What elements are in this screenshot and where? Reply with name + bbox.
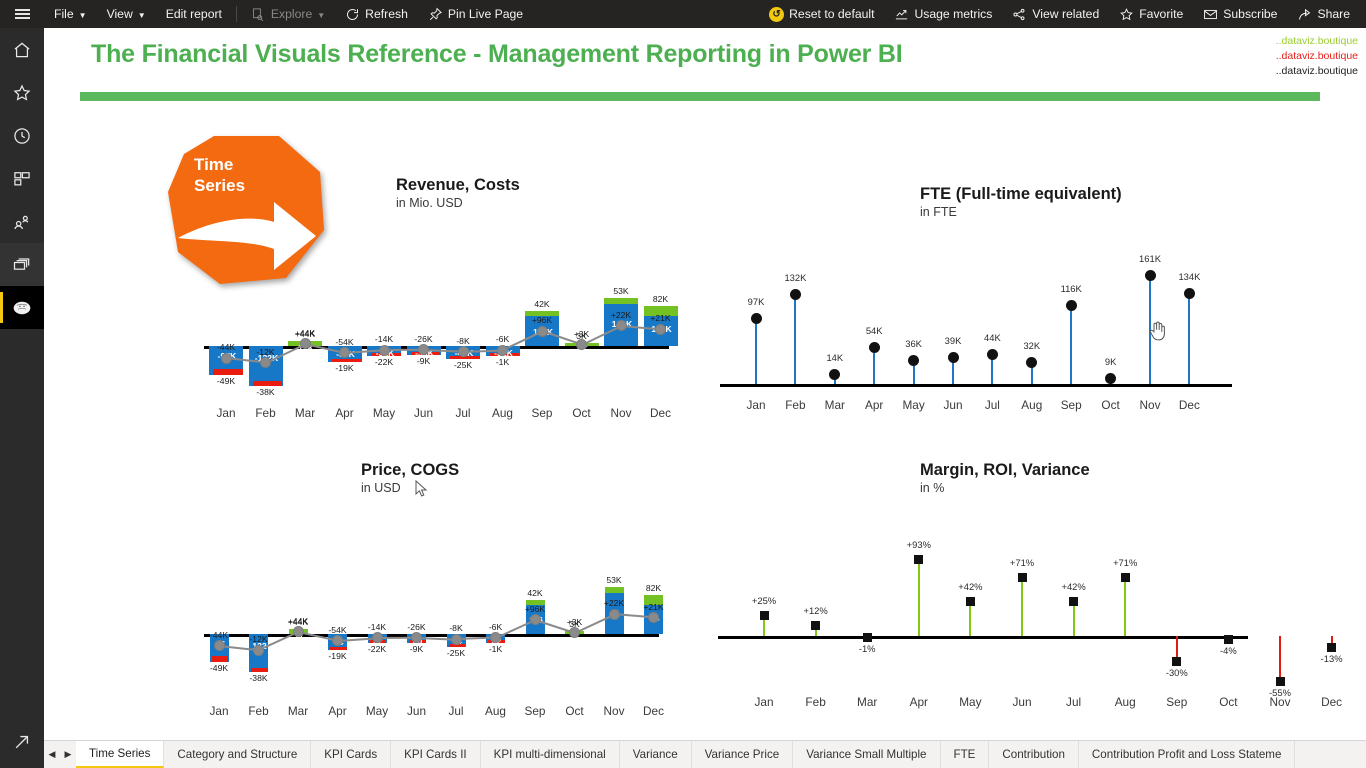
bar-delta-label: 42K bbox=[520, 299, 564, 309]
page-tab-kpi-multi-dimensional[interactable]: KPI multi-dimensional bbox=[481, 741, 620, 768]
variance-label: -44K bbox=[197, 630, 241, 640]
value-label: 132K bbox=[771, 272, 819, 283]
page-tab-label: Category and Structure bbox=[177, 748, 297, 761]
panel-subtitle: in FTE bbox=[920, 205, 1340, 219]
ribbon-item-favorite[interactable]: Favorite bbox=[1109, 0, 1193, 28]
value-marker bbox=[811, 621, 820, 630]
hamburger-icon[interactable] bbox=[0, 0, 44, 28]
chevron-down-icon: ▼ bbox=[79, 11, 87, 20]
axis-category-label: Dec bbox=[632, 704, 676, 718]
ribbon-item-share[interactable]: Share bbox=[1287, 0, 1360, 28]
connector-marker bbox=[451, 634, 462, 645]
panel-price-cogs: Price, COGS in USD bbox=[361, 461, 691, 495]
ribbon-item-edit-report[interactable]: Edit report bbox=[156, 0, 232, 28]
axis-category-label: Jun bbox=[395, 704, 439, 718]
bar-delta-label: -49K bbox=[204, 376, 248, 386]
page-tab-bar: ◀ ▶ Time SeriesCategory and StructureKPI… bbox=[44, 740, 1366, 768]
ribbon-item-label: File bbox=[54, 7, 74, 21]
value-marker bbox=[760, 611, 769, 620]
bar-delta-label: -25K bbox=[441, 360, 485, 370]
envelope-icon bbox=[1203, 7, 1218, 22]
connector-marker bbox=[379, 345, 390, 356]
connector-marker bbox=[214, 640, 225, 651]
connector-marker bbox=[616, 320, 627, 331]
axis-category-label: May bbox=[355, 704, 399, 718]
ribbon-right-group: ↺Reset to defaultUsage metricsView relat… bbox=[759, 0, 1366, 28]
clock-icon bbox=[12, 126, 32, 146]
panel-fte: FTE (Full-time equivalent) in FTE bbox=[920, 185, 1340, 219]
ribbon-item-view[interactable]: View▼ bbox=[97, 0, 156, 28]
sidebar-item-apps[interactable] bbox=[0, 157, 44, 200]
lollipop-stem bbox=[755, 318, 757, 384]
variance-label: +22K bbox=[599, 310, 643, 320]
axis-category-label: Sep bbox=[1151, 695, 1203, 709]
usage-metrics-icon bbox=[894, 7, 909, 22]
value-label: 97K bbox=[732, 296, 780, 307]
axis-category-label: Apr bbox=[323, 406, 367, 420]
axis-category-label: Nov bbox=[592, 704, 636, 718]
people-icon bbox=[12, 212, 32, 232]
axis-category-label: Dec bbox=[1165, 398, 1213, 412]
chart-price-cogs[interactable]: 97-49K-44K132-38K-12K17+44K+44K54-19K-54… bbox=[194, 510, 694, 700]
lollipop-marker bbox=[1145, 270, 1156, 281]
reset-icon: ↺ bbox=[769, 7, 784, 22]
sidebar-item-recent[interactable] bbox=[0, 114, 44, 157]
bar-delta-positive bbox=[604, 298, 638, 305]
axis-category-label: May bbox=[362, 406, 406, 420]
page-tab-contribution-profit-and-loss-stateme[interactable]: Contribution Profit and Loss Stateme bbox=[1079, 741, 1295, 768]
bar-delta-label: -9K bbox=[395, 644, 439, 654]
chart-margin-roi[interactable]: +25%Jan+12%Feb-1%Mar+93%Apr+42%May+71%Ju… bbox=[710, 510, 1270, 700]
axis-category-label: Jun bbox=[402, 406, 446, 420]
ribbon-item-label: Edit report bbox=[166, 7, 222, 21]
value-label: +71% bbox=[996, 557, 1048, 568]
ribbon-left-group: File▼View▼Edit reportExplore▼RefreshPin … bbox=[44, 0, 533, 28]
lollipop-marker bbox=[829, 369, 840, 380]
value-label: +25% bbox=[738, 595, 790, 606]
connector-marker bbox=[253, 645, 264, 656]
bar-delta-negative bbox=[212, 656, 229, 662]
axis-category-label: Sep bbox=[520, 406, 564, 420]
stem-positive bbox=[1021, 578, 1023, 636]
axis-category-label: Mar bbox=[841, 695, 893, 709]
value-marker bbox=[914, 555, 923, 564]
connector-marker bbox=[537, 326, 548, 337]
lollipop-stem bbox=[1188, 293, 1190, 384]
ribbon-item-label: View bbox=[107, 7, 133, 21]
pin-icon bbox=[428, 7, 443, 22]
variance-label: -26K bbox=[395, 622, 439, 632]
axis-category-label: Jul bbox=[441, 406, 485, 420]
bar-delta-label: -22K bbox=[362, 357, 406, 367]
ribbon-item-label: Favorite bbox=[1139, 7, 1183, 21]
value-marker bbox=[966, 597, 975, 606]
lollipop-marker bbox=[1184, 288, 1195, 299]
star-icon bbox=[1119, 7, 1134, 22]
panel-title: Price, COGS bbox=[361, 461, 691, 480]
ribbon-item-label: Pin Live Page bbox=[448, 7, 523, 21]
value-marker bbox=[863, 633, 872, 642]
lollipop-marker bbox=[1066, 300, 1077, 311]
variance-label: +21K bbox=[639, 313, 683, 323]
bar-delta-label: 42K bbox=[513, 588, 557, 598]
page-tab-label: Contribution Profit and Loss Stateme bbox=[1092, 748, 1281, 761]
badge-line-1: Time bbox=[194, 154, 245, 175]
page-tab-label: Contribution bbox=[1002, 748, 1065, 761]
value-marker bbox=[1018, 573, 1027, 582]
axis-category-label: Apr bbox=[316, 704, 360, 718]
variance-label: -54K bbox=[323, 337, 367, 347]
bar-delta-label: -1K bbox=[474, 644, 518, 654]
axis-category-label: Jan bbox=[197, 704, 241, 718]
page-tab-kpi-cards[interactable]: KPI Cards bbox=[311, 741, 391, 768]
page-tab-time-series[interactable]: Time Series bbox=[76, 741, 164, 768]
bar-delta-label: 53K bbox=[592, 575, 636, 585]
axis-category-label: Jan bbox=[204, 406, 248, 420]
workspaces-icon bbox=[12, 255, 32, 275]
bar-delta-negative bbox=[213, 369, 243, 375]
page-tab-variance-small-multiple[interactable]: Variance Small Multiple bbox=[793, 741, 940, 768]
ribbon-item-label: Usage metrics bbox=[914, 7, 992, 21]
axis-category-label: Dec bbox=[639, 406, 683, 420]
ribbon-item-label: View related bbox=[1032, 7, 1099, 21]
arrow-up-right-icon bbox=[12, 732, 32, 752]
home-icon bbox=[12, 40, 32, 60]
value-marker bbox=[1121, 573, 1130, 582]
axis-category-label: Jun bbox=[996, 695, 1048, 709]
panel-title: Revenue, Costs bbox=[396, 176, 726, 195]
variance-label: +96K bbox=[513, 604, 557, 614]
lollipop-stem bbox=[794, 294, 796, 384]
panel-title: FTE (Full-time equivalent) bbox=[920, 185, 1340, 204]
panel-revenue-costs: Revenue, Costs in Mio. USD bbox=[396, 176, 726, 210]
bar-delta-label: 82K bbox=[632, 583, 676, 593]
sidebar-item-current-workspace[interactable] bbox=[0, 286, 44, 329]
value-label: 161K bbox=[1126, 253, 1174, 264]
ribbon-item-view-related[interactable]: View related bbox=[1002, 0, 1109, 28]
bar-delta-label: -22K bbox=[355, 644, 399, 654]
bar-delta-label: -19K bbox=[316, 651, 360, 661]
variance-label: -8K bbox=[434, 623, 478, 633]
title-accent-band bbox=[80, 92, 1320, 101]
axis-category-label: Oct bbox=[1202, 695, 1254, 709]
variance-label: +96K bbox=[520, 315, 564, 325]
page-tab-label: KPI Cards II bbox=[404, 748, 467, 761]
page-tab-label: FTE bbox=[954, 748, 976, 761]
variance-label: +44K bbox=[283, 328, 327, 338]
explore-icon bbox=[251, 7, 266, 22]
axis-category-label: Aug bbox=[474, 704, 518, 718]
value-marker bbox=[1172, 657, 1181, 666]
lollipop-marker bbox=[751, 313, 762, 324]
stem-negative bbox=[1279, 636, 1281, 681]
page-tab-label: Variance bbox=[633, 748, 678, 761]
value-label: +71% bbox=[1099, 557, 1151, 568]
connector-marker bbox=[293, 626, 304, 637]
lollipop-marker bbox=[790, 289, 801, 300]
bar-delta-negative bbox=[253, 381, 283, 386]
value-label: 54K bbox=[850, 325, 898, 336]
top-ribbon: File▼View▼Edit reportExplore▼RefreshPin … bbox=[0, 0, 1366, 28]
stem-positive bbox=[1073, 602, 1075, 636]
page-tab-kpi-cards-ii[interactable]: KPI Cards II bbox=[391, 741, 481, 768]
bar-delta-negative bbox=[332, 359, 362, 362]
bar-delta-label: -25K bbox=[434, 648, 478, 658]
variance-label: +44K bbox=[276, 616, 320, 626]
bar-delta-label: -38K bbox=[244, 387, 288, 397]
axis-category-label: Jul bbox=[434, 704, 478, 718]
lollipop-marker bbox=[869, 342, 880, 353]
chart-baseline bbox=[720, 384, 1232, 387]
axis-category-label: Oct bbox=[560, 406, 604, 420]
connector-marker bbox=[609, 609, 620, 620]
ribbon-item-subscribe[interactable]: Subscribe bbox=[1193, 0, 1287, 28]
badge-label: Time Series bbox=[194, 154, 245, 196]
axis-category-label: Feb bbox=[237, 704, 281, 718]
ribbon-item-reset-to-default[interactable]: ↺Reset to default bbox=[759, 0, 884, 28]
chevron-down-icon: ▼ bbox=[138, 11, 146, 20]
brand-line-1: ..dataviz.boutique bbox=[1276, 34, 1358, 49]
value-marker bbox=[1276, 677, 1285, 686]
ribbon-item-label: Reset to default bbox=[789, 7, 874, 21]
hamburger-bars bbox=[15, 7, 30, 22]
page-tab-variance-price[interactable]: Variance Price bbox=[692, 741, 794, 768]
ribbon-item-label: Explore bbox=[271, 7, 312, 21]
bar-delta-label: 82K bbox=[639, 294, 683, 304]
page-tabs: Time SeriesCategory and StructureKPI Car… bbox=[76, 741, 1295, 768]
value-label: 9K bbox=[1087, 356, 1135, 367]
value-label: 14K bbox=[811, 352, 859, 363]
value-label: -4% bbox=[1202, 645, 1254, 656]
mouse-cursor-arrow bbox=[415, 480, 428, 498]
page-tab-label: KPI multi-dimensional bbox=[494, 748, 606, 761]
value-marker bbox=[1224, 635, 1233, 644]
sidebar-item-favorites[interactable] bbox=[0, 71, 44, 114]
bar-delta-label: -49K bbox=[197, 663, 241, 673]
page-tab-label: Variance Price bbox=[705, 748, 780, 761]
axis-category-label: Feb bbox=[790, 695, 842, 709]
stem-positive bbox=[918, 560, 920, 636]
variance-label: -54K bbox=[316, 625, 360, 635]
ribbon-item-pin-live-page[interactable]: Pin Live Page bbox=[418, 0, 533, 28]
bar-delta-label: 53K bbox=[599, 286, 643, 296]
axis-category-label: Apr bbox=[893, 695, 945, 709]
page-tab-fte[interactable]: FTE bbox=[941, 741, 990, 768]
variance-label: -8K bbox=[441, 336, 485, 346]
badge-line-2: Series bbox=[194, 175, 245, 196]
sidebar-item-workspaces[interactable] bbox=[0, 243, 44, 286]
connector-marker bbox=[332, 635, 343, 646]
brand-logo: ..dataviz.boutique ..dataviz.boutique ..… bbox=[1276, 34, 1358, 79]
chevron-down-icon: ▼ bbox=[317, 11, 325, 20]
bar-delta-negative bbox=[330, 647, 347, 650]
value-label: -13% bbox=[1306, 653, 1358, 664]
ribbon-item-refresh[interactable]: Refresh bbox=[335, 0, 418, 28]
page-tab-label: Variance Small Multiple bbox=[806, 748, 926, 761]
view-related-icon bbox=[1012, 7, 1027, 22]
axis-category-label: Aug bbox=[1099, 695, 1151, 709]
panel-subtitle: in Mio. USD bbox=[396, 196, 726, 210]
star-icon bbox=[12, 83, 32, 103]
chart-revenue-costs[interactable]: -97K-49K-44K-132K-38K-12K17K+44K+44K-54K… bbox=[194, 224, 694, 404]
report-canvas: The Financial Visuals Reference - Manage… bbox=[44, 28, 1366, 740]
axis-category-label: Jan bbox=[738, 695, 790, 709]
page-tab-category-and-structure[interactable]: Category and Structure bbox=[164, 741, 311, 768]
panel-title: Margin, ROI, Variance bbox=[920, 461, 1340, 480]
lollipop-marker bbox=[948, 352, 959, 363]
value-label: 116K bbox=[1047, 283, 1095, 294]
ribbon-item-label: Share bbox=[1317, 7, 1350, 21]
ribbon-item-file[interactable]: File▼ bbox=[44, 0, 97, 28]
axis-category-label: Aug bbox=[481, 406, 525, 420]
connector-marker bbox=[221, 353, 232, 364]
ribbon-separator bbox=[236, 6, 237, 22]
axis-category-label: Nov bbox=[1254, 695, 1306, 709]
sidebar-item-expand[interactable] bbox=[0, 722, 44, 762]
lollipop-marker bbox=[987, 349, 998, 360]
value-marker bbox=[1069, 597, 1078, 606]
panel-subtitle: in USD bbox=[361, 481, 691, 495]
connector-marker bbox=[497, 345, 508, 356]
chart-fte[interactable]: 97KJan132KFeb14KMar54KApr36KMay39KJun44K… bbox=[720, 224, 1250, 394]
value-label: +93% bbox=[893, 539, 945, 550]
lollipop-stem bbox=[1070, 305, 1072, 384]
apps-grid-icon bbox=[12, 169, 32, 189]
axis-category-label: Feb bbox=[244, 406, 288, 420]
brand-line-3: ..dataviz.boutique bbox=[1276, 64, 1358, 79]
avatar-icon bbox=[12, 298, 32, 318]
variance-label: +21K bbox=[632, 602, 676, 612]
sidebar-item-shared-with-me[interactable] bbox=[0, 200, 44, 243]
axis-category-label: Mar bbox=[283, 406, 327, 420]
bar-delta-label: -38K bbox=[237, 673, 281, 683]
panel-subtitle: in % bbox=[920, 481, 1340, 495]
axis-category-label: Sep bbox=[513, 704, 557, 718]
value-label: -30% bbox=[1151, 667, 1203, 678]
brand-line-2: ..dataviz.boutique bbox=[1276, 49, 1358, 64]
axis-category-label: Nov bbox=[599, 406, 643, 420]
page-title: The Financial Visuals Reference - Manage… bbox=[91, 40, 903, 69]
axis-category-label: May bbox=[944, 695, 996, 709]
share-icon bbox=[1297, 7, 1312, 22]
variance-label: -44K bbox=[204, 342, 248, 352]
ribbon-item-usage-metrics[interactable]: Usage metrics bbox=[884, 0, 1002, 28]
value-label: +42% bbox=[944, 581, 996, 592]
value-marker bbox=[1327, 643, 1336, 652]
value-label: -1% bbox=[841, 643, 893, 654]
bar-delta-positive bbox=[605, 587, 624, 593]
bar-delta-label: -1K bbox=[481, 357, 525, 367]
connector-marker bbox=[655, 324, 666, 335]
axis-category-label: Mar bbox=[276, 704, 320, 718]
page-next-button[interactable]: ▶ bbox=[60, 741, 76, 768]
connector-marker bbox=[458, 346, 469, 357]
page-tab-variance[interactable]: Variance bbox=[620, 741, 692, 768]
bar-delta-label: -9K bbox=[402, 356, 446, 366]
value-label: 134K bbox=[1165, 271, 1213, 282]
value-label: 32K bbox=[1008, 340, 1056, 351]
connector-marker bbox=[530, 614, 541, 625]
ribbon-item-label: Refresh bbox=[365, 7, 408, 21]
variance-label: -14K bbox=[362, 334, 406, 344]
axis-category-label: Dec bbox=[1306, 695, 1358, 709]
variance-label: +22K bbox=[592, 598, 636, 608]
lollipop-marker bbox=[1026, 357, 1037, 368]
axis-category-label: Jul bbox=[1048, 695, 1100, 709]
left-nav-rail bbox=[0, 28, 44, 768]
lollipop-marker bbox=[908, 355, 919, 366]
chart-baseline bbox=[718, 636, 1248, 639]
ribbon-item-explore[interactable]: Explore▼ bbox=[241, 0, 335, 28]
page-tab-label: Time Series bbox=[89, 747, 150, 760]
connector-marker bbox=[300, 338, 311, 349]
sidebar-item-home[interactable] bbox=[0, 28, 44, 71]
stem-positive bbox=[969, 602, 971, 636]
ribbon-item-label: Subscribe bbox=[1223, 7, 1277, 21]
axis-category-label: Oct bbox=[553, 704, 597, 718]
page-prev-button[interactable]: ◀ bbox=[44, 741, 60, 768]
variance-label: -14K bbox=[355, 622, 399, 632]
lollipop-marker bbox=[1105, 373, 1116, 384]
bar-delta-label: -19K bbox=[323, 363, 367, 373]
refresh-icon bbox=[345, 7, 360, 22]
page-tab-contribution[interactable]: Contribution bbox=[989, 741, 1079, 768]
panel-margin-roi: Margin, ROI, Variance in % bbox=[920, 461, 1340, 495]
stem-positive bbox=[1124, 578, 1126, 636]
value-label: +12% bbox=[790, 605, 842, 616]
value-label: +42% bbox=[1048, 581, 1100, 592]
connector-marker bbox=[372, 632, 383, 643]
mouse-cursor-hand bbox=[1149, 320, 1166, 341]
bar-delta-negative bbox=[251, 668, 268, 672]
page-tab-label: KPI Cards bbox=[324, 748, 377, 761]
variance-label: -26K bbox=[402, 334, 446, 344]
